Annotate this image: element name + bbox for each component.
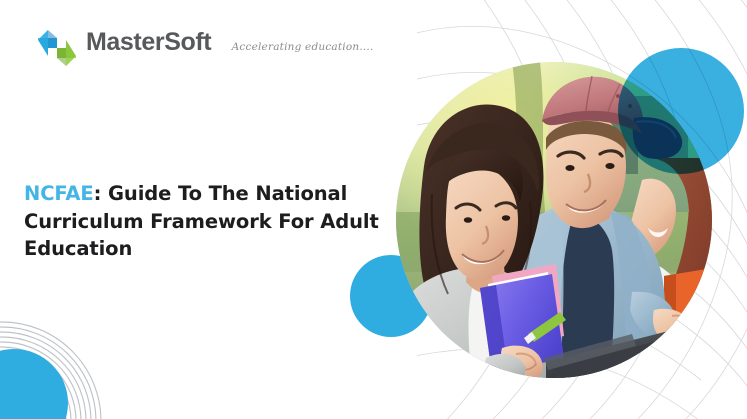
page-title-separator: : [94,182,108,205]
decorative-circle-top-right [618,48,744,174]
mastersoft-pinwheel-icon [36,28,78,68]
mastersoft-logo[interactable]: MasterSoft Accelerating education.... [36,28,374,68]
logo-wordmark: MasterSoft [86,28,211,56]
page-title-accent: NCFAE [24,182,94,205]
decorative-circle-bottom-left [0,349,68,419]
hero-banner: MasterSoft Accelerating education.... NC… [0,0,747,419]
page-title: NCFAE: Guide To The National Curriculum … [24,180,392,263]
logo-text-block: MasterSoft Accelerating education.... [86,28,374,55]
logo-tagline: Accelerating education.... [232,41,374,53]
